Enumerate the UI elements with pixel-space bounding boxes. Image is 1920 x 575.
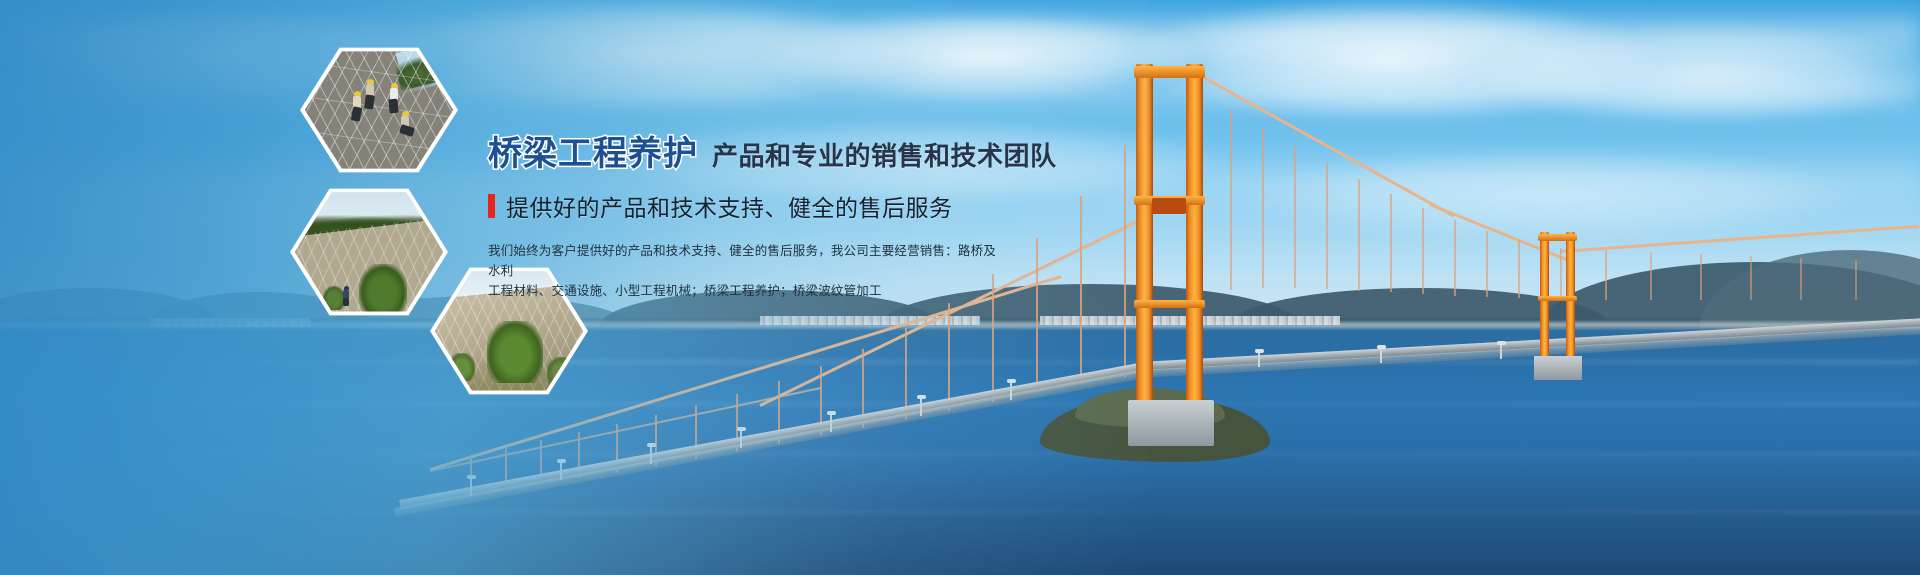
banner-title-main: 桥梁工程养护: [488, 126, 698, 175]
hanger-cable: [1560, 248, 1562, 300]
hanger-cable: [1294, 146, 1296, 288]
photo-shrub: [449, 353, 475, 381]
photo-shrub: [547, 357, 577, 387]
hanger-cable: [1700, 254, 1702, 300]
banner-title-row: 桥梁工程养护 产品和专业的销售和技术团队: [488, 126, 1048, 175]
photo-rockfall-netting: [305, 49, 454, 171]
hanger-cable: [1422, 208, 1424, 294]
hanger-cable: [1518, 240, 1520, 298]
hanger-cable: [1605, 250, 1607, 300]
bridge-tower-right-leg: [1186, 64, 1203, 414]
hanger-cable: [1326, 163, 1328, 289]
banner-text-block: 桥梁工程养护 产品和专业的销售和技术团队 提供好的产品和技术支持、健全的售后服务…: [488, 126, 1048, 301]
photo-shrub: [487, 321, 543, 383]
deck-lamp: [1258, 352, 1260, 367]
banner-subtitle: 提供好的产品和技术支持、健全的售后服务: [506, 189, 953, 223]
far-tower-crossbeam: [1538, 234, 1577, 241]
photo-slope-netting: [295, 190, 444, 314]
hanger-cable: [1230, 110, 1232, 290]
cloud: [1480, 26, 1920, 122]
banner-subtitle-row: 提供好的产品和技术支持、健全的售后服务: [488, 189, 1048, 223]
hanger-cable: [1486, 231, 1488, 297]
description-line-2: 工程材料、交通设施、小型工程机械；桥梁工程养护；桥梁波纹管加工: [488, 281, 1008, 301]
deck-lamp: [1500, 344, 1502, 359]
photo-tree: [359, 264, 407, 314]
far-tower-pier: [1534, 356, 1582, 380]
hanger-cable: [1262, 128, 1264, 288]
hanger-cable: [1454, 220, 1456, 296]
hanger-cable: [1800, 258, 1802, 300]
hanger-cable: [1390, 194, 1392, 292]
banner-title-secondary: 产品和专业的销售和技术团队: [712, 136, 1057, 173]
photo-wire-mesh: [305, 49, 454, 171]
deck-lamp: [1380, 348, 1382, 363]
description-line-1: 我们始终为客户提供好的产品和技术支持、健全的售后服务，我公司主要经营销售：路桥及…: [488, 241, 1008, 281]
cloud: [1250, 150, 1850, 240]
hex-photo-rockfall-netting[interactable]: [300, 45, 458, 175]
tower-sign-plaque: [1152, 198, 1186, 214]
hex-photo-slope-netting[interactable]: [290, 186, 448, 318]
red-accent-bar: [488, 194, 495, 218]
hanger-cable: [1855, 260, 1857, 300]
far-tower-crossbeam: [1538, 296, 1577, 301]
hanger-cable: [1650, 252, 1652, 300]
photo-tree: [323, 286, 345, 310]
hero-banner: 桥梁工程养护 产品和专业的销售和技术团队 提供好的产品和技术支持、健全的售后服务…: [0, 0, 1920, 575]
hanger-cable: [1750, 256, 1752, 300]
hanger-cable: [1358, 179, 1360, 291]
banner-description: 我们始终为客户提供好的产品和技术支持、健全的售后服务，我公司主要经营销售：路桥及…: [488, 241, 1008, 301]
